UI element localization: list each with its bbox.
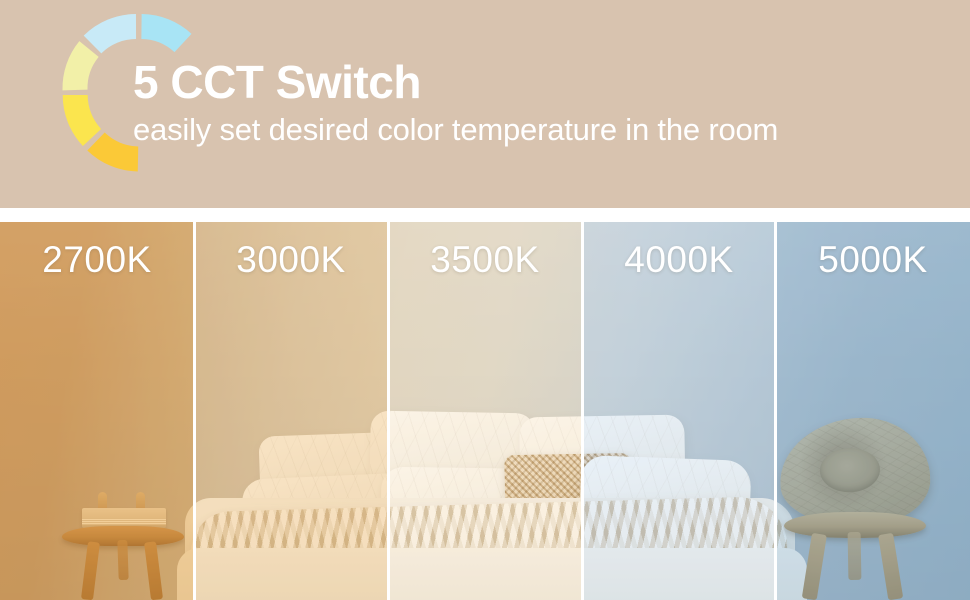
page-title: 5 CCT Switch <box>133 56 953 108</box>
cct-label-row: 2700K 3000K 3500K 4000K 5000K <box>0 222 970 600</box>
cct-label-4000k: 4000K <box>624 238 734 282</box>
cct-label-2700k: 2700K <box>42 238 152 282</box>
cct-label-5000k: 5000K <box>818 238 928 282</box>
page-subtitle: easily set desired color temperature in … <box>133 111 953 149</box>
header-scene-divider <box>0 208 970 222</box>
cct-label-cell-3500k: 3500K <box>388 222 582 600</box>
cct-label-cell-4000k: 4000K <box>582 222 776 600</box>
banner-header: 5 CCT Switch easily set desired color te… <box>0 0 970 208</box>
cct-label-cell-2700k: 2700K <box>0 222 194 600</box>
cct-label-3000k: 3000K <box>236 238 346 282</box>
bedroom-scene: 2700K 3000K 3500K 4000K 5000K <box>0 222 970 600</box>
header-text-block: 5 CCT Switch easily set desired color te… <box>133 56 953 149</box>
cct-label-cell-3000k: 3000K <box>194 222 388 600</box>
cct-label-cell-5000k: 5000K <box>776 222 970 600</box>
cct-label-3500k: 3500K <box>430 238 540 282</box>
cct-switch-banner: 5 CCT Switch easily set desired color te… <box>0 0 970 600</box>
